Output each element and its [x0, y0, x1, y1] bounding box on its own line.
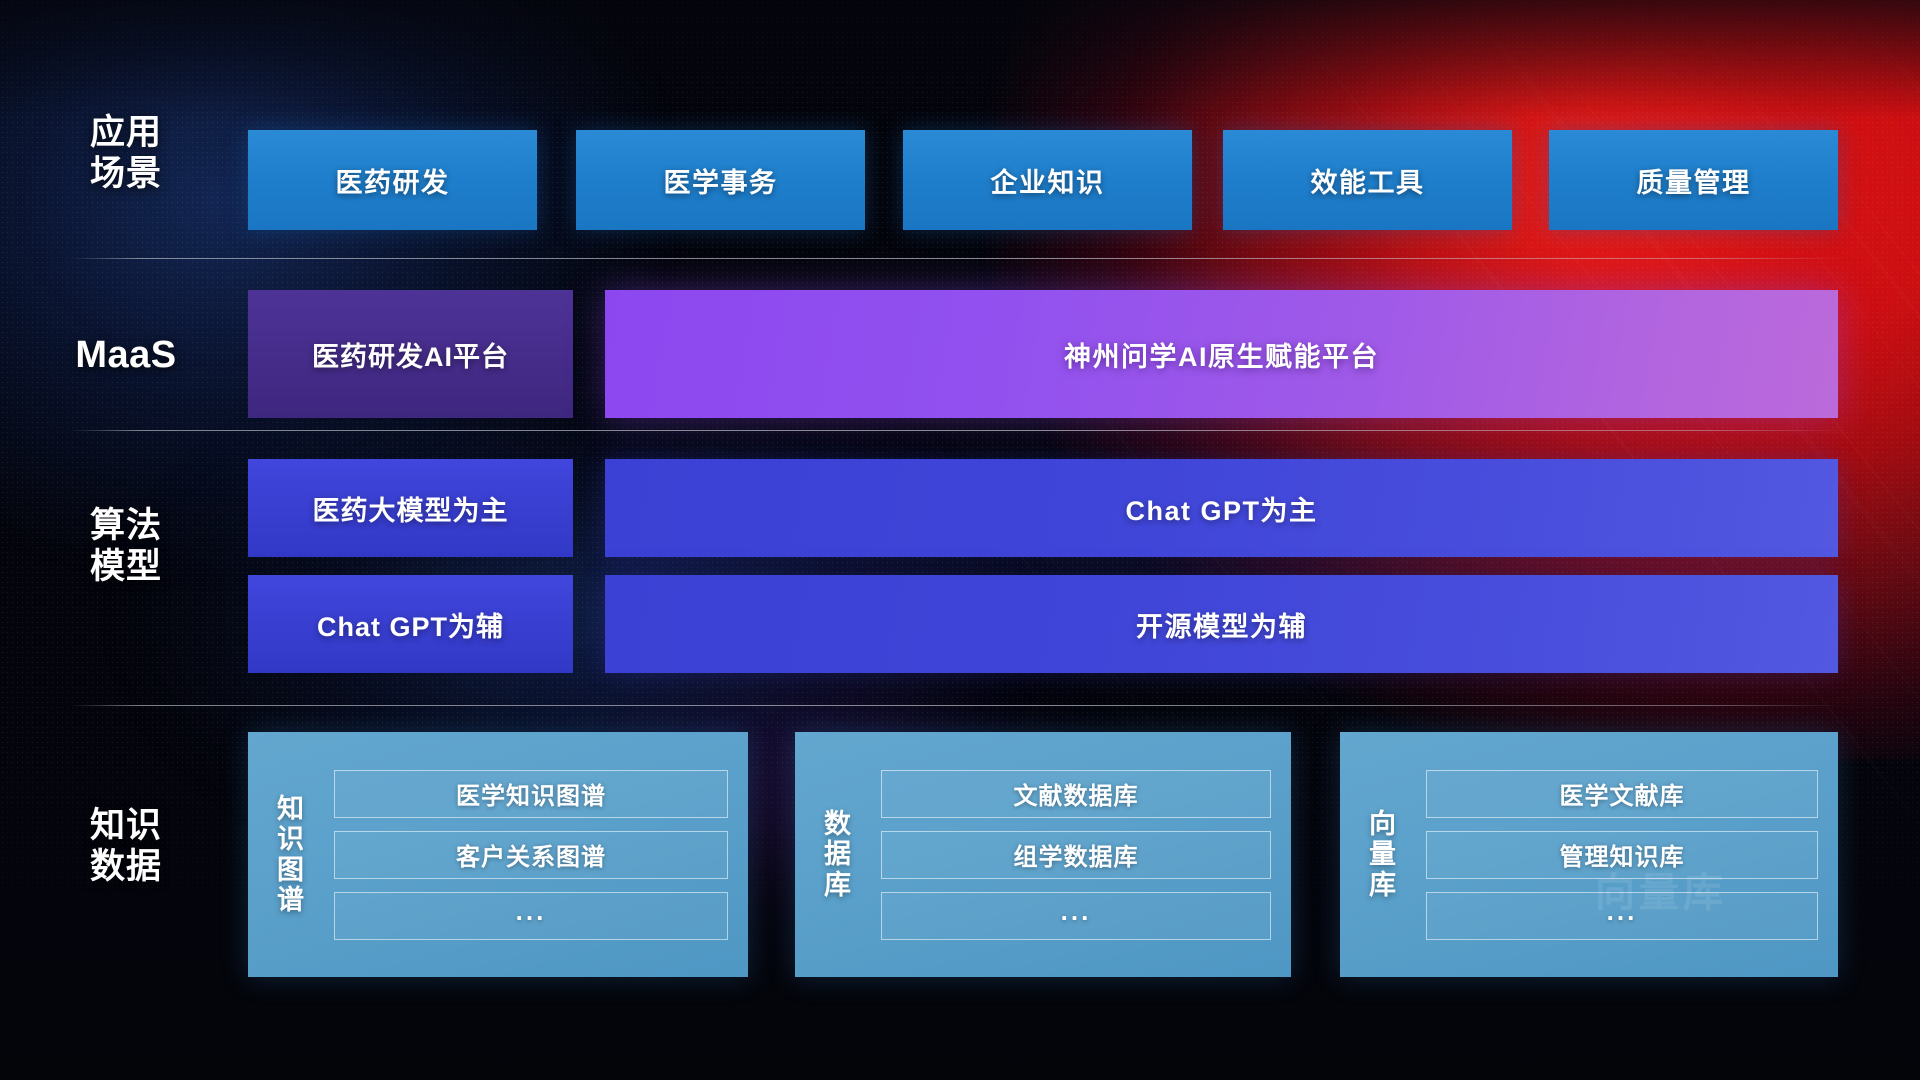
- knowledge-panel-title-char: 向: [1369, 809, 1397, 840]
- knowledge-item-management-kb[interactable]: 管理知识库: [1426, 831, 1818, 879]
- app-card-label: 效能工具: [1311, 161, 1425, 200]
- row-label-application-line2: 场景: [48, 153, 204, 194]
- knowledge-panel-title-char: 谱: [277, 885, 305, 916]
- knowledge-panel-vector-store[interactable]: 向 量 库 医学文献库 管理知识库 ...: [1340, 732, 1838, 977]
- app-card-label: 企业知识: [991, 161, 1105, 200]
- knowledge-item-more[interactable]: ...: [1426, 892, 1818, 940]
- knowledge-item-literature-db[interactable]: 文献数据库: [881, 770, 1271, 818]
- algo-card-label: 医药大模型为主: [313, 489, 509, 528]
- row-label-algorithm-line2: 模型: [48, 546, 204, 587]
- knowledge-item-more[interactable]: ...: [881, 892, 1271, 940]
- knowledge-panel-title-char: 据: [824, 839, 852, 870]
- app-card-label: 医学事务: [664, 161, 778, 200]
- knowledge-panel-title-char: 图: [277, 855, 305, 886]
- row-label-application: 应用 场景: [48, 112, 204, 195]
- knowledge-panel-title-char: 知: [277, 794, 305, 825]
- row-label-application-line1: 应用: [48, 112, 204, 153]
- row-label-maas-text: MaaS: [48, 333, 204, 378]
- app-card-label: 医药研发: [336, 161, 450, 200]
- algo-card-label: Chat GPT为主: [1125, 489, 1317, 528]
- maas-card-shenzhou-wenxue[interactable]: 神州问学AI原生赋能平台: [605, 290, 1838, 418]
- knowledge-item-label: 医学知识图谱: [456, 776, 606, 811]
- knowledge-item-crm-graph[interactable]: 客户关系图谱: [334, 831, 728, 879]
- algo-card-label: Chat GPT为辅: [317, 605, 504, 644]
- algo-card-label: 开源模型为辅: [1136, 605, 1307, 644]
- app-card-efficiency-tools[interactable]: 效能工具: [1223, 130, 1512, 230]
- knowledge-item-medical-literature[interactable]: 医学文献库: [1426, 770, 1818, 818]
- maas-card-pharma-ai-platform[interactable]: 医药研发AI平台: [248, 290, 573, 418]
- divider-application-maas: [70, 258, 1846, 259]
- knowledge-panel-title: 向 量 库: [1340, 732, 1426, 977]
- knowledge-item-label: ...: [516, 896, 547, 927]
- maas-card-label: 神州问学AI原生赋能平台: [1064, 335, 1379, 374]
- architecture-diagram: 应用 场景 医药研发 医学事务 企业知识 效能工具 质量管理 MaaS 医药研发…: [0, 0, 1920, 1080]
- row-label-knowledge-line1: 知识: [48, 805, 204, 846]
- divider-algorithm-knowledge: [70, 705, 1846, 706]
- algo-card-chatgpt-primary[interactable]: Chat GPT为主: [605, 459, 1838, 557]
- knowledge-panel-title-char: 量: [1369, 839, 1397, 870]
- knowledge-item-label: ...: [1061, 896, 1092, 927]
- app-card-medicine-rd[interactable]: 医药研发: [248, 130, 537, 230]
- knowledge-panel-database[interactable]: 数 据 库 文献数据库 组学数据库 ...: [795, 732, 1291, 977]
- algo-card-pharma-llm-primary[interactable]: 医药大模型为主: [248, 459, 573, 557]
- knowledge-panel-title-char: 库: [824, 870, 852, 901]
- knowledge-item-label: 管理知识库: [1560, 837, 1685, 872]
- knowledge-item-label: ...: [1607, 896, 1638, 927]
- knowledge-item-omics-db[interactable]: 组学数据库: [881, 831, 1271, 879]
- knowledge-panel-items: 医学知识图谱 客户关系图谱 ...: [334, 732, 748, 977]
- app-card-enterprise-knowledge[interactable]: 企业知识: [903, 130, 1192, 230]
- row-label-algorithm: 算法 模型: [48, 505, 204, 588]
- algo-card-opensource-secondary[interactable]: 开源模型为辅: [605, 575, 1838, 673]
- knowledge-panel-title-char: 数: [824, 809, 852, 840]
- knowledge-panel-items: 文献数据库 组学数据库 ...: [881, 732, 1291, 977]
- row-label-knowledge: 知识 数据: [48, 805, 204, 888]
- knowledge-panel-title-char: 识: [277, 824, 305, 855]
- app-card-quality-management[interactable]: 质量管理: [1549, 130, 1838, 230]
- knowledge-panel-title: 知 识 图 谱: [248, 732, 334, 977]
- row-label-algorithm-line1: 算法: [48, 505, 204, 546]
- knowledge-item-label: 组学数据库: [1014, 837, 1139, 872]
- knowledge-item-label: 客户关系图谱: [456, 837, 606, 872]
- maas-card-label: 医药研发AI平台: [312, 335, 509, 374]
- knowledge-item-more[interactable]: ...: [334, 892, 728, 940]
- app-card-label: 质量管理: [1637, 161, 1751, 200]
- knowledge-item-medical-graph[interactable]: 医学知识图谱: [334, 770, 728, 818]
- row-label-knowledge-line2: 数据: [48, 846, 204, 887]
- algo-card-chatgpt-secondary[interactable]: Chat GPT为辅: [248, 575, 573, 673]
- row-label-maas: MaaS: [48, 333, 204, 378]
- knowledge-panel-items: 医学文献库 管理知识库 ...: [1426, 732, 1838, 977]
- app-card-medical-affairs[interactable]: 医学事务: [576, 130, 865, 230]
- knowledge-panel-title-char: 库: [1369, 870, 1397, 901]
- knowledge-panel-graph[interactable]: 知 识 图 谱 医学知识图谱 客户关系图谱 ...: [248, 732, 748, 977]
- divider-maas-algorithm: [70, 430, 1846, 431]
- knowledge-item-label: 文献数据库: [1014, 776, 1139, 811]
- knowledge-item-label: 医学文献库: [1560, 776, 1685, 811]
- knowledge-panel-title: 数 据 库: [795, 732, 881, 977]
